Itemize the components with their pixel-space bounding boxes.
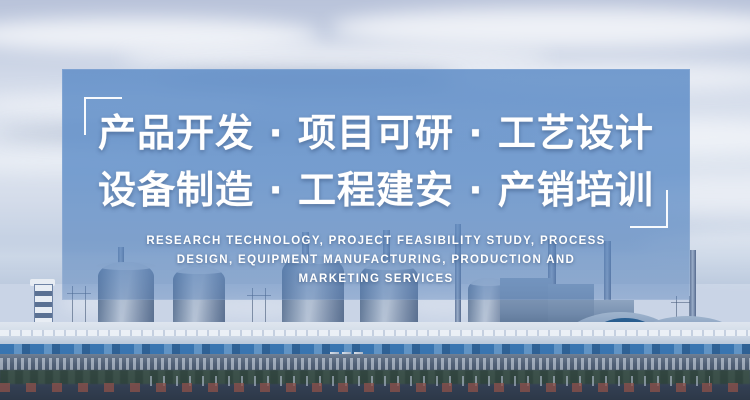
- blue-overlay-panel: 产品开发 · 项目可研 · 工艺设计 设备制造 · 工程建安 · 产销培训 RE…: [62, 69, 690, 300]
- headline-line-2: 设备制造 · 工程建安 · 产销培训: [62, 162, 690, 219]
- factory-roofline: [0, 330, 750, 336]
- headline-line-1-text: 产品开发 · 项目可研 · 工艺设计: [98, 111, 654, 155]
- headline-line-2-text: 设备制造 · 工程建安 · 产销培训: [98, 168, 654, 212]
- subtitle-line-1: RESEARCH TECHNOLOGY, PROJECT FEASIBILITY…: [140, 232, 612, 251]
- subtitle-line-3: MARKETING SERVICES: [140, 270, 612, 289]
- hero-banner: 产品开发 · 项目可研 · 工艺设计 设备制造 · 工程建安 · 产销培训 RE…: [0, 0, 750, 400]
- red-roof-row: [0, 383, 750, 392]
- headline-group: 产品开发 · 项目可研 · 工艺设计 设备制造 · 工程建安 · 产销培训: [62, 105, 690, 219]
- rail-yard: [0, 358, 750, 370]
- headline-line-1: 产品开发 · 项目可研 · 工艺设计: [62, 105, 690, 162]
- subtitle-group: RESEARCH TECHNOLOGY, PROJECT FEASIBILITY…: [140, 232, 612, 289]
- subtitle-line-2: DESIGN, EQUIPMENT MANUFACTURING, PRODUCT…: [140, 251, 612, 270]
